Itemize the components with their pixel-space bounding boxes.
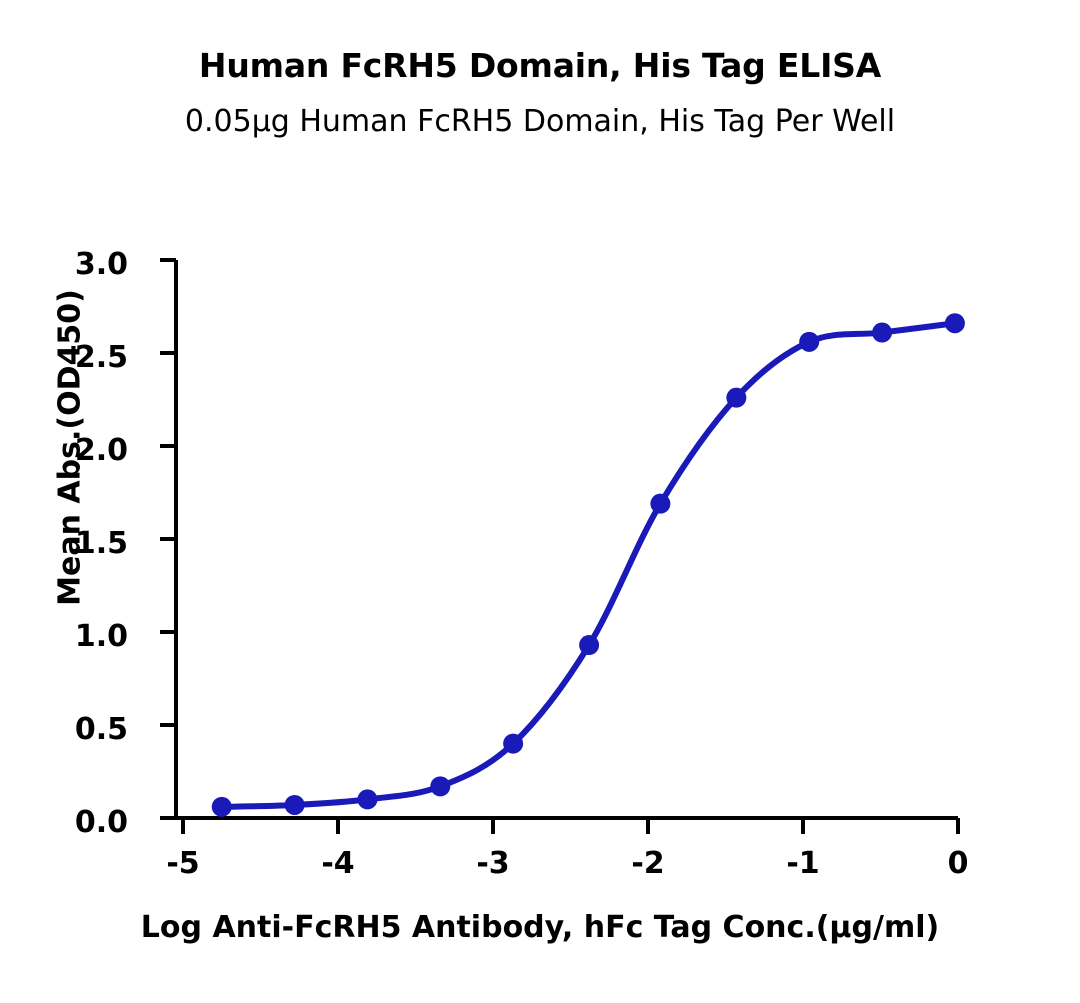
fit-curve [222, 323, 955, 807]
data-point [945, 313, 965, 333]
data-point [430, 776, 450, 796]
data-point [212, 797, 232, 817]
data-point [726, 388, 746, 408]
data-point [357, 789, 377, 809]
data-point-group [212, 313, 965, 817]
data-point [503, 734, 523, 754]
axes [160, 260, 958, 834]
data-point [579, 635, 599, 655]
data-point [285, 795, 305, 815]
data-point [872, 323, 892, 343]
plot-area [0, 0, 1080, 1003]
y-tick-marks [160, 260, 176, 818]
chart-canvas: Human FcRH5 Domain, His Tag ELISA 0.05µg… [0, 0, 1080, 1003]
data-point [799, 332, 819, 352]
data-point [650, 494, 670, 514]
x-tick-marks [183, 818, 958, 834]
